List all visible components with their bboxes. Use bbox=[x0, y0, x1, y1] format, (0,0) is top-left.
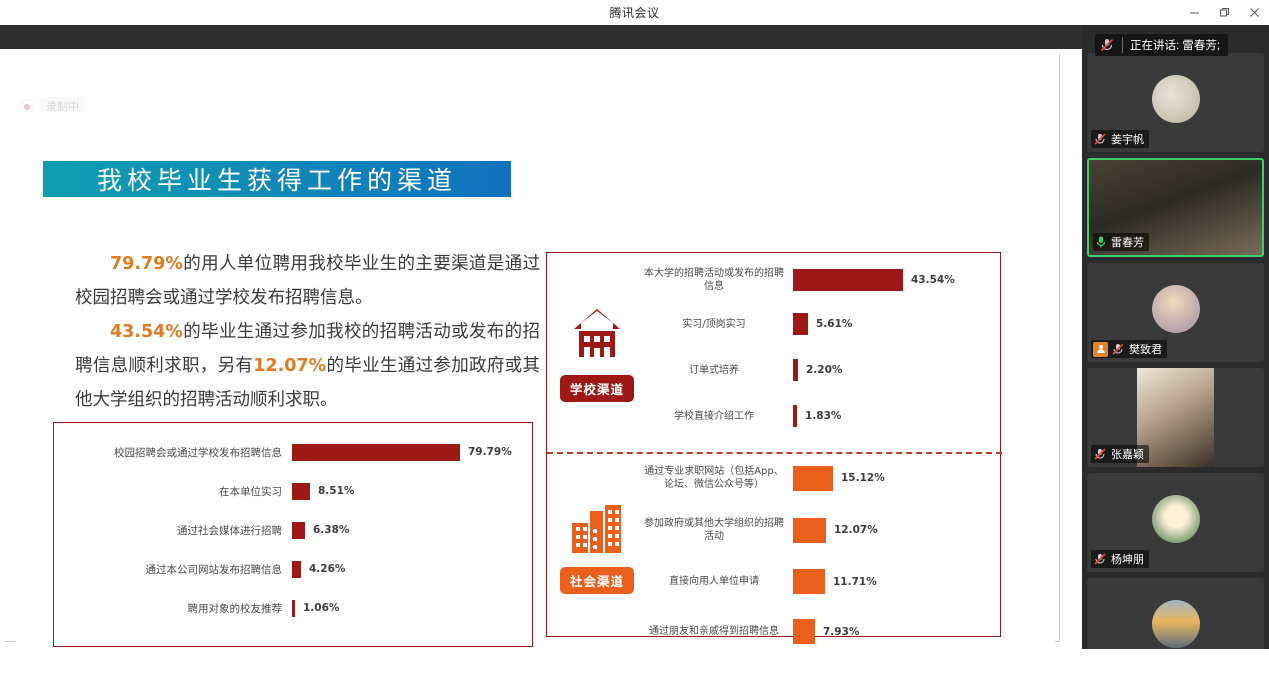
bar-label: 订单式培养 bbox=[643, 364, 793, 377]
bar-label: 校园招聘会或通过学校发布招聘信息 bbox=[64, 445, 292, 460]
bar-label: 通过专业求职网站（包括App、论坛、微信公众号等） bbox=[643, 465, 793, 491]
school-channel-tag: 学校渠道 bbox=[560, 375, 634, 402]
bar-group: 79.79% bbox=[292, 444, 512, 461]
window-title: 腾讯会议 bbox=[609, 4, 659, 21]
microphone-muted-icon bbox=[1093, 132, 1107, 146]
bar-value: 15.12% bbox=[841, 472, 885, 484]
host-badge bbox=[1093, 342, 1108, 357]
chart-row: 通过朋友和亲戚得到招聘信息 7.93% bbox=[643, 619, 988, 644]
school-channel-group: 学校渠道 bbox=[547, 305, 647, 402]
participant-name: 雷春芳 bbox=[1111, 234, 1144, 250]
avatar bbox=[1152, 285, 1200, 333]
presentation-slide: 我校毕业生获得工作的渠道 79.79%的用人单位聘用我校毕业生的主要渠道是通过校… bbox=[15, 112, 1055, 674]
microphone-muted-icon bbox=[1111, 342, 1125, 356]
avatar bbox=[1152, 495, 1200, 543]
bar-fill bbox=[793, 313, 808, 335]
bar-label: 通过社会媒体进行招聘 bbox=[64, 523, 292, 538]
bar-label: 在本单位实习 bbox=[64, 484, 292, 499]
bar-value: 79.79% bbox=[468, 446, 512, 458]
paragraph-2: 43.54%的毕业生通过参加我校的招聘活动或发布的招聘信息顺利求职，另有12.0… bbox=[75, 315, 540, 417]
participant-name: 张嘉颖 bbox=[1111, 446, 1144, 462]
city-buildings-icon bbox=[566, 501, 628, 559]
active-speaker-indicator: 正在讲话: 雷春芳; bbox=[1095, 34, 1228, 56]
bar-value: 8.51% bbox=[318, 485, 354, 497]
bar-value: 7.93% bbox=[823, 626, 859, 638]
close-button[interactable] bbox=[1239, 0, 1269, 25]
bar-label: 通过朋友和亲戚得到招聘信息 bbox=[643, 625, 793, 638]
slide-paragraphs: 79.79%的用人单位聘用我校毕业生的主要渠道是通过校园招聘会或通过学校发布招聘… bbox=[75, 247, 540, 417]
bar-value: 2.20% bbox=[806, 364, 842, 376]
microphone-muted-icon bbox=[1093, 447, 1107, 461]
section-divider bbox=[547, 452, 1002, 454]
chart-row: 在本单位实习 8.51% bbox=[64, 476, 524, 506]
bar-group: 6.38% bbox=[292, 522, 349, 539]
chart-row: 本大学的招聘活动或发布的招聘信息 43.54% bbox=[643, 267, 988, 293]
participant-rail: 姜宇帆 雷春芳 bbox=[1082, 25, 1269, 674]
bar-fill bbox=[292, 561, 301, 578]
participant-tile[interactable]: 姜宇帆 bbox=[1087, 53, 1264, 152]
window-titlebar: 腾讯会议 bbox=[0, 0, 1269, 25]
participant-namebar: 张嘉颖 bbox=[1091, 445, 1149, 463]
microphone-muted-icon bbox=[1093, 552, 1107, 566]
bar-value: 4.26% bbox=[309, 563, 345, 575]
bar-fill bbox=[793, 619, 815, 644]
bar-fill bbox=[793, 518, 826, 543]
chart-row: 通过专业求职网站（包括App、论坛、微信公众号等） 15.12% bbox=[643, 465, 988, 491]
paragraph-1: 79.79%的用人单位聘用我校毕业生的主要渠道是通过校园招聘会或通过学校发布招聘… bbox=[75, 247, 540, 315]
tencent-meeting-window: 腾讯会议 bbox=[0, 0, 1269, 674]
bar-label: 通过本公司网站发布招聘信息 bbox=[64, 562, 292, 577]
bar-fill bbox=[793, 405, 797, 427]
channel-breakdown-panel: 学校渠道 本大学的招聘活动或发布的招聘信息 43.54% 实习/顶岗实习 5.6… bbox=[546, 252, 1001, 637]
bar-label: 本大学的招聘活动或发布的招聘信息 bbox=[643, 267, 793, 293]
social-channel-tag: 社会渠道 bbox=[560, 567, 634, 594]
bar-value: 43.54% bbox=[911, 274, 955, 286]
chart-row: 通过本公司网站发布招聘信息 4.26% bbox=[64, 554, 524, 584]
bar-value: 12.07% bbox=[834, 524, 878, 536]
chart-row: 通过社会媒体进行招聘 6.38% bbox=[64, 515, 524, 545]
stat-79: 79.79% bbox=[110, 254, 183, 274]
bar-fill bbox=[292, 444, 460, 461]
participant-tile[interactable]: 雷春芳 bbox=[1087, 158, 1264, 257]
bar-fill bbox=[793, 359, 798, 381]
participant-tile[interactable]: 樊致君 bbox=[1087, 263, 1264, 362]
participant-tile[interactable]: 张嘉颖 bbox=[1087, 368, 1264, 467]
participant-name: 樊致君 bbox=[1129, 341, 1162, 357]
bar-fill bbox=[793, 569, 825, 594]
shared-screen-frame: 录制中 我校毕业生获得工作的渠道 79.79%的用人单位聘用我校毕业生的主要渠道… bbox=[5, 54, 1060, 642]
bar-fill bbox=[793, 466, 833, 491]
chart-row: 学校直接介绍工作 1.83% bbox=[643, 405, 988, 427]
bar-value: 5.61% bbox=[816, 318, 852, 330]
participant-name: 杨坤朋 bbox=[1111, 551, 1144, 567]
bar-label: 学校直接介绍工作 bbox=[643, 410, 793, 423]
slide-title-text: 我校毕业生获得工作的渠道 bbox=[97, 161, 457, 197]
microphone-muted-icon bbox=[1099, 37, 1115, 53]
window-bottom-strip bbox=[0, 649, 1269, 674]
bar-label: 聘用对象的校友推荐 bbox=[64, 601, 292, 616]
participant-namebar: 樊致君 bbox=[1091, 340, 1167, 358]
bar-value: 1.83% bbox=[805, 410, 841, 422]
minimize-button[interactable] bbox=[1179, 0, 1209, 25]
employer-channel-chart: 校园招聘会或通过学校发布招聘信息 79.79% 在本单位实习 8.51% bbox=[53, 422, 533, 647]
bar-group: 1.06% bbox=[292, 600, 339, 617]
window-controls bbox=[1179, 0, 1269, 25]
avatar bbox=[1152, 75, 1200, 123]
bar-label: 参加政府或其他大学组织的招聘活动 bbox=[643, 517, 793, 543]
chart-row: 聘用对象的校友推荐 1.06% bbox=[64, 593, 524, 623]
avatar bbox=[1152, 600, 1200, 648]
bar-fill bbox=[292, 483, 310, 500]
person-icon bbox=[1096, 344, 1106, 354]
chart-row: 订单式培养 2.20% bbox=[643, 359, 988, 381]
bar-fill bbox=[292, 522, 305, 539]
participant-namebar: 姜宇帆 bbox=[1091, 130, 1149, 148]
slide-title-banner: 我校毕业生获得工作的渠道 bbox=[43, 161, 511, 197]
chart-row: 校园招聘会或通过学校发布招聘信息 79.79% bbox=[64, 437, 524, 467]
chart-row: 直接向用人单位申请 11.71% bbox=[643, 569, 988, 594]
participant-namebar: 杨坤朋 bbox=[1091, 550, 1149, 568]
chart-row: 参加政府或其他大学组织的招聘活动 12.07% bbox=[643, 517, 988, 543]
bar-fill bbox=[292, 600, 295, 617]
shared-screen-stage[interactable]: 录制中 我校毕业生获得工作的渠道 79.79%的用人单位聘用我校毕业生的主要渠道… bbox=[0, 49, 1082, 649]
active-speaker-text: 正在讲话: 雷春芳; bbox=[1122, 37, 1220, 53]
bar-fill bbox=[793, 269, 903, 291]
participant-name: 姜宇帆 bbox=[1111, 131, 1144, 147]
maximize-button[interactable] bbox=[1209, 0, 1239, 25]
bar-value: 6.38% bbox=[313, 524, 349, 536]
participant-namebar: 雷春芳 bbox=[1093, 233, 1149, 251]
meeting-body: 录制中 我校毕业生获得工作的渠道 79.79%的用人单位聘用我校毕业生的主要渠道… bbox=[0, 25, 1269, 674]
social-channel-group: 社会渠道 bbox=[547, 501, 647, 594]
stat-4354: 43.54% bbox=[110, 322, 183, 342]
bar-value: 1.06% bbox=[303, 602, 339, 614]
bar-value: 11.71% bbox=[833, 576, 877, 588]
bar-label: 直接向用人单位申请 bbox=[643, 575, 793, 588]
bar-label: 实习/顶岗实习 bbox=[643, 318, 793, 331]
school-building-icon bbox=[566, 305, 628, 367]
stat-1207: 12.07% bbox=[253, 356, 326, 376]
bar-group: 4.26% bbox=[292, 561, 345, 578]
bar-group: 8.51% bbox=[292, 483, 354, 500]
microphone-icon bbox=[1095, 235, 1107, 249]
chart-row: 实习/顶岗实习 5.61% bbox=[643, 313, 988, 335]
participant-tile[interactable]: 杨坤朋 bbox=[1087, 473, 1264, 572]
